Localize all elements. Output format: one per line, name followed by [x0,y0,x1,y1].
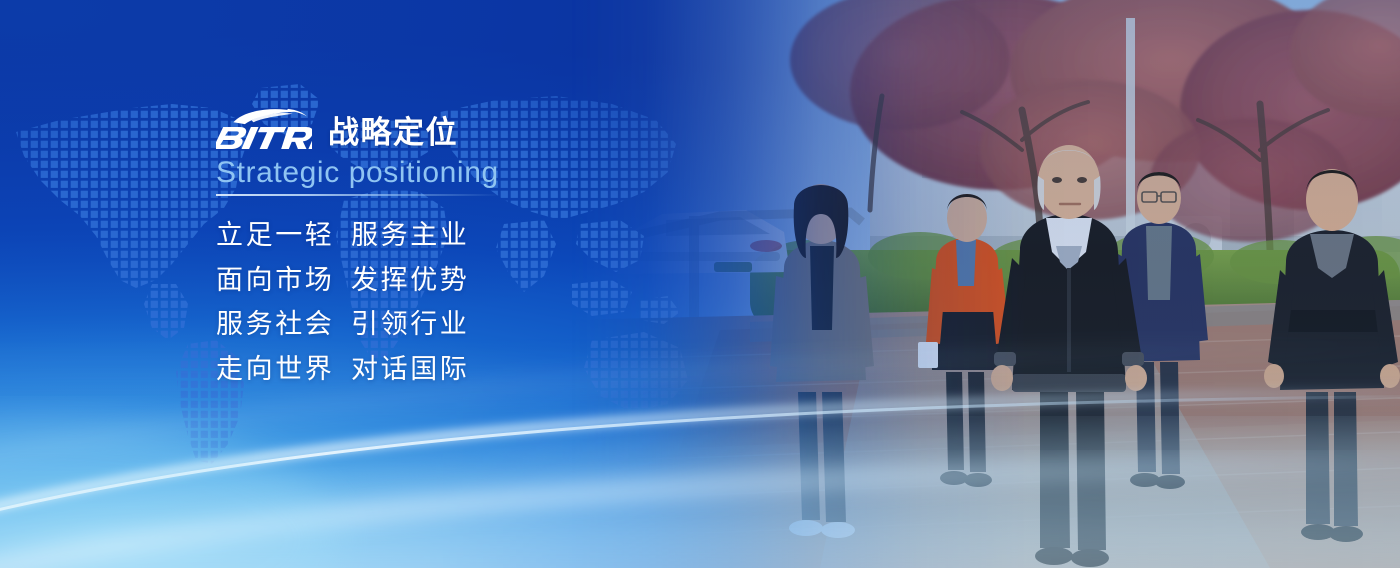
slogan-line: 面向市场 发挥优势 [216,263,736,299]
subtitle-english: Strategic positioning [216,156,736,190]
slogan-left: 面向市场 [216,263,351,299]
page-title: 战略定位 [328,117,458,150]
slogan-right: 对话国际 [351,352,469,388]
slogan-right: 发挥优势 [351,263,469,299]
slogan-right: 服务主业 [351,218,469,254]
slogan-list: 立足一轻 服务主业 面向市场 发挥优势 服务社会 引领行业 走向世界 对话国际 [216,218,736,388]
slogan-left: 立足一轻 [216,218,351,254]
strategic-positioning-banner: 战略定位 Strategic positioning 立足一轻 服务主业 面向市… [0,0,1400,568]
slogan-line: 走向世界 对话国际 [216,352,736,388]
swoosh-arc-icon [233,109,307,124]
banner-text-block: 战略定位 Strategic positioning 立足一轻 服务主业 面向市… [216,104,736,388]
slogan-left: 服务社会 [216,307,351,343]
title-divider [216,194,501,196]
slogan-line: 立足一轻 服务主业 [216,218,736,254]
slogan-right: 引领行业 [351,307,469,343]
slogan-left: 走向世界 [216,352,351,388]
bitri-logo[interactable] [216,106,312,150]
title-row: 战略定位 [216,104,736,150]
slogan-line: 服务社会 引领行业 [216,307,736,343]
